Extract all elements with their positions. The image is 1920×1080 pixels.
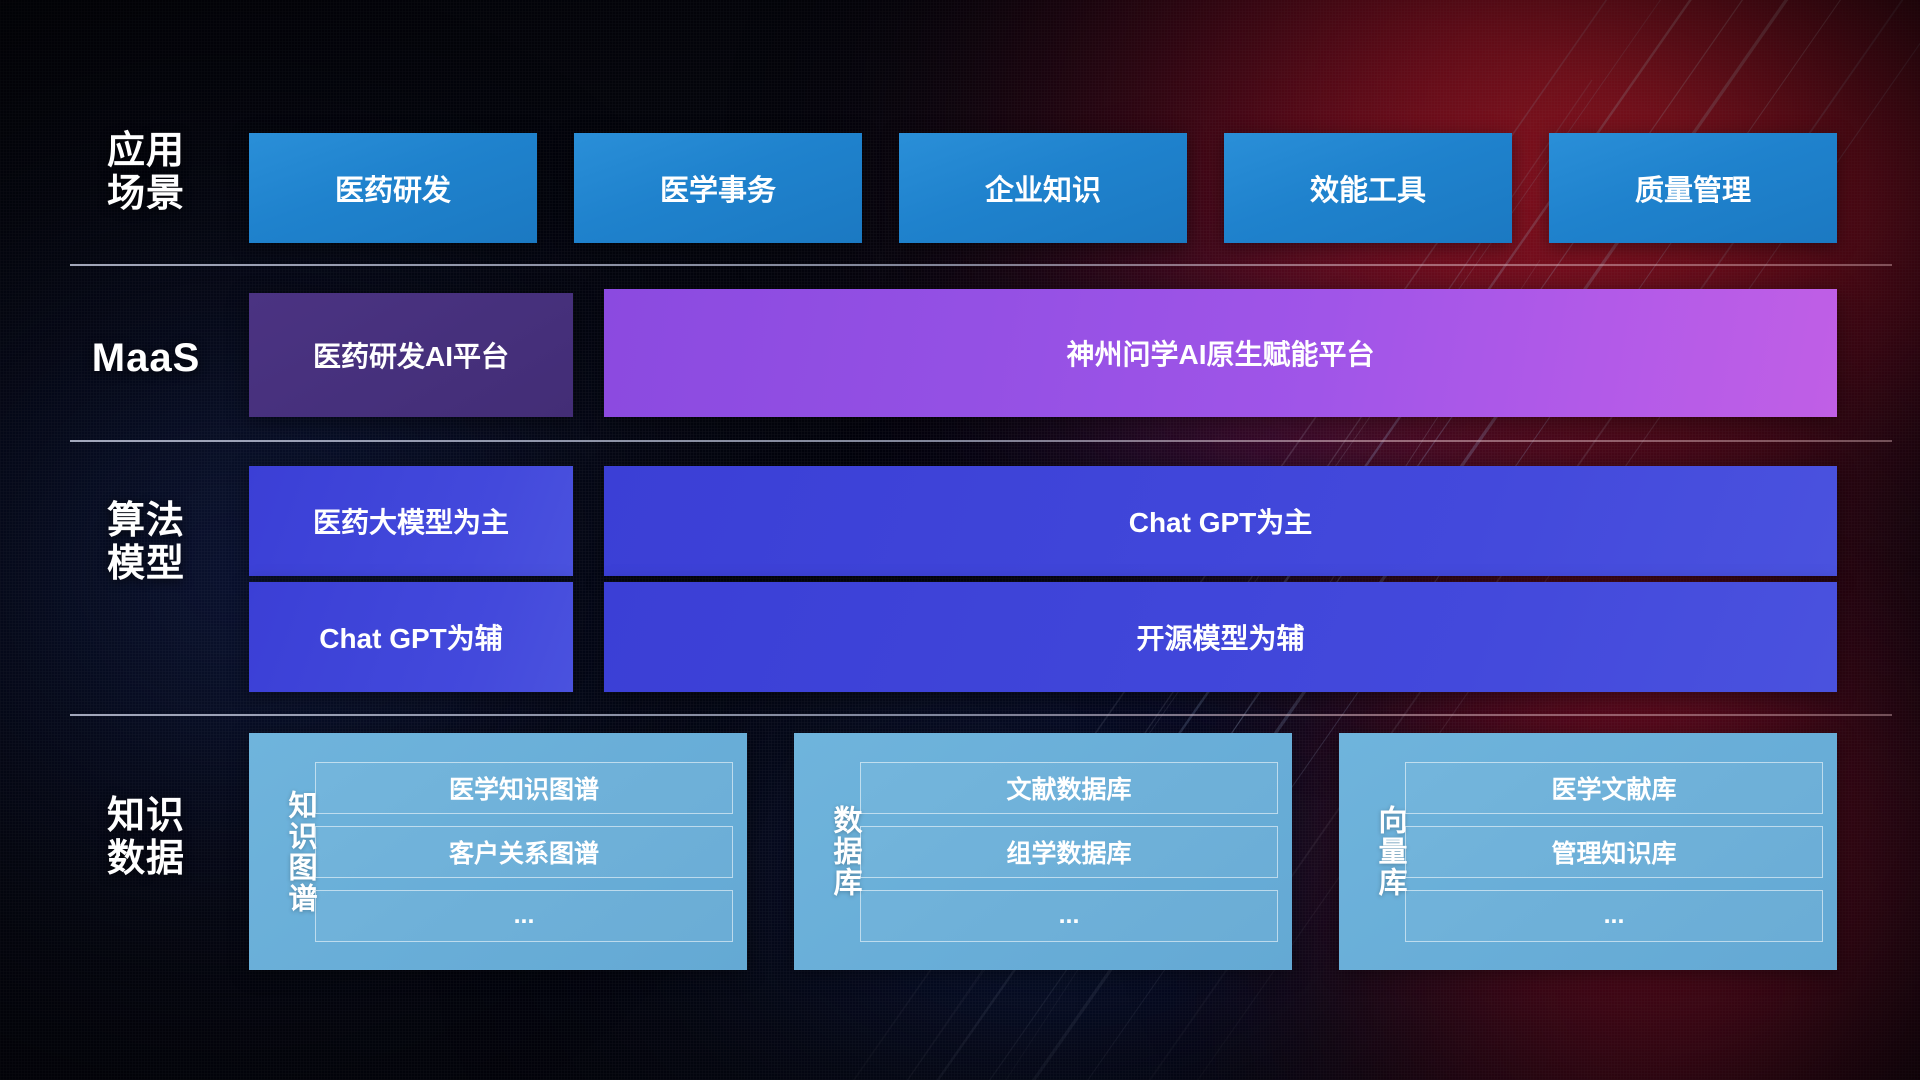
app-box-0-label: 医药研发 (335, 167, 451, 209)
app-box-0[interactable]: 医药研发 (249, 133, 537, 243)
algo-box-right-0[interactable]: Chat GPT为主 (604, 466, 1837, 576)
algo-box-right-1-label: 开源模型为辅 (1136, 617, 1304, 657)
app-box-1[interactable]: 医学事务 (574, 133, 862, 243)
knowledge-group-0-item-2[interactable]: ... (315, 890, 733, 942)
knowledge-group-1-item-0[interactable]: 文献数据库 (860, 762, 1278, 814)
algo-box-left-0-label: 医药大模型为主 (313, 501, 509, 541)
knowledge-group-2-item-0[interactable]: 医学文献库 (1405, 762, 1823, 814)
row-label-algorithm-models: 算法 模型 (88, 500, 204, 585)
algo-box-right-1[interactable]: 开源模型为辅 (604, 582, 1837, 692)
maas-left-box-label: 医药研发AI平台 (313, 335, 509, 375)
algo-box-left-0[interactable]: 医药大模型为主 (249, 466, 573, 576)
algo-box-left-1[interactable]: Chat GPT为辅 (249, 582, 573, 692)
knowledge-group-1-items: 文献数据库 组学数据库 ... (860, 762, 1278, 942)
row-label-application-scenarios: 应用 场景 (88, 130, 204, 215)
knowledge-group-1-item-1[interactable]: 组学数据库 (860, 826, 1278, 878)
divider-2 (70, 440, 1892, 442)
knowledge-group-2-vertical-label: 向量库 (1353, 745, 1405, 958)
maas-right-box[interactable]: 神州问学AI原生赋能平台 (604, 289, 1837, 417)
knowledge-group-0-item-2-label: ... (514, 901, 535, 930)
knowledge-group-1-item-0-label: 文献数据库 (1006, 770, 1131, 806)
knowledge-group-1[interactable]: 数据库 文献数据库 组学数据库 ... (794, 733, 1292, 970)
maas-right-box-label: 神州问学AI原生赋能平台 (1066, 333, 1374, 373)
knowledge-group-0-items: 医学知识图谱 客户关系图谱 ... (315, 762, 733, 942)
app-box-1-label: 医学事务 (660, 167, 776, 209)
app-box-4-label: 质量管理 (1635, 167, 1751, 209)
knowledge-group-2-item-1-label: 管理知识库 (1551, 834, 1676, 870)
knowledge-group-0-item-1-label: 客户关系图谱 (449, 834, 599, 870)
knowledge-group-2-item-1[interactable]: 管理知识库 (1405, 826, 1823, 878)
app-box-3[interactable]: 效能工具 (1224, 133, 1512, 243)
architecture-diagram: 应用 场景 医药研发 医学事务 企业知识 效能工具 质量管理 MaaS 医药研发… (0, 0, 1920, 1080)
app-box-4[interactable]: 质量管理 (1549, 133, 1837, 243)
app-box-2[interactable]: 企业知识 (899, 133, 1187, 243)
knowledge-group-1-item-2-label: ... (1059, 901, 1080, 930)
knowledge-group-0-item-0[interactable]: 医学知识图谱 (315, 762, 733, 814)
algo-box-left-1-label: Chat GPT为辅 (319, 617, 503, 657)
row-label-knowledge-data: 知识 数据 (88, 795, 204, 880)
knowledge-group-1-item-1-label: 组学数据库 (1006, 834, 1131, 870)
algo-box-right-0-label: Chat GPT为主 (1129, 501, 1313, 541)
knowledge-group-2-item-0-label: 医学文献库 (1551, 770, 1676, 806)
app-box-2-label: 企业知识 (985, 167, 1101, 209)
knowledge-group-0[interactable]: 知识图谱 医学知识图谱 客户关系图谱 ... (249, 733, 747, 970)
row-label-maas: MaaS (80, 336, 212, 381)
app-box-3-label: 效能工具 (1310, 167, 1426, 209)
knowledge-group-2[interactable]: 向量库 医学文献库 管理知识库 ... (1339, 733, 1837, 970)
knowledge-group-1-item-2[interactable]: ... (860, 890, 1278, 942)
knowledge-group-2-items: 医学文献库 管理知识库 ... (1405, 762, 1823, 942)
maas-left-box[interactable]: 医药研发AI平台 (249, 293, 573, 417)
knowledge-group-0-item-0-label: 医学知识图谱 (449, 770, 599, 806)
knowledge-group-2-item-2[interactable]: ... (1405, 890, 1823, 942)
knowledge-group-0-item-1[interactable]: 客户关系图谱 (315, 826, 733, 878)
divider-3 (70, 714, 1892, 716)
divider-1 (70, 264, 1892, 266)
knowledge-group-2-item-2-label: ... (1604, 901, 1625, 930)
knowledge-group-0-vertical-label: 知识图谱 (263, 745, 315, 958)
knowledge-group-1-vertical-label: 数据库 (808, 745, 860, 958)
